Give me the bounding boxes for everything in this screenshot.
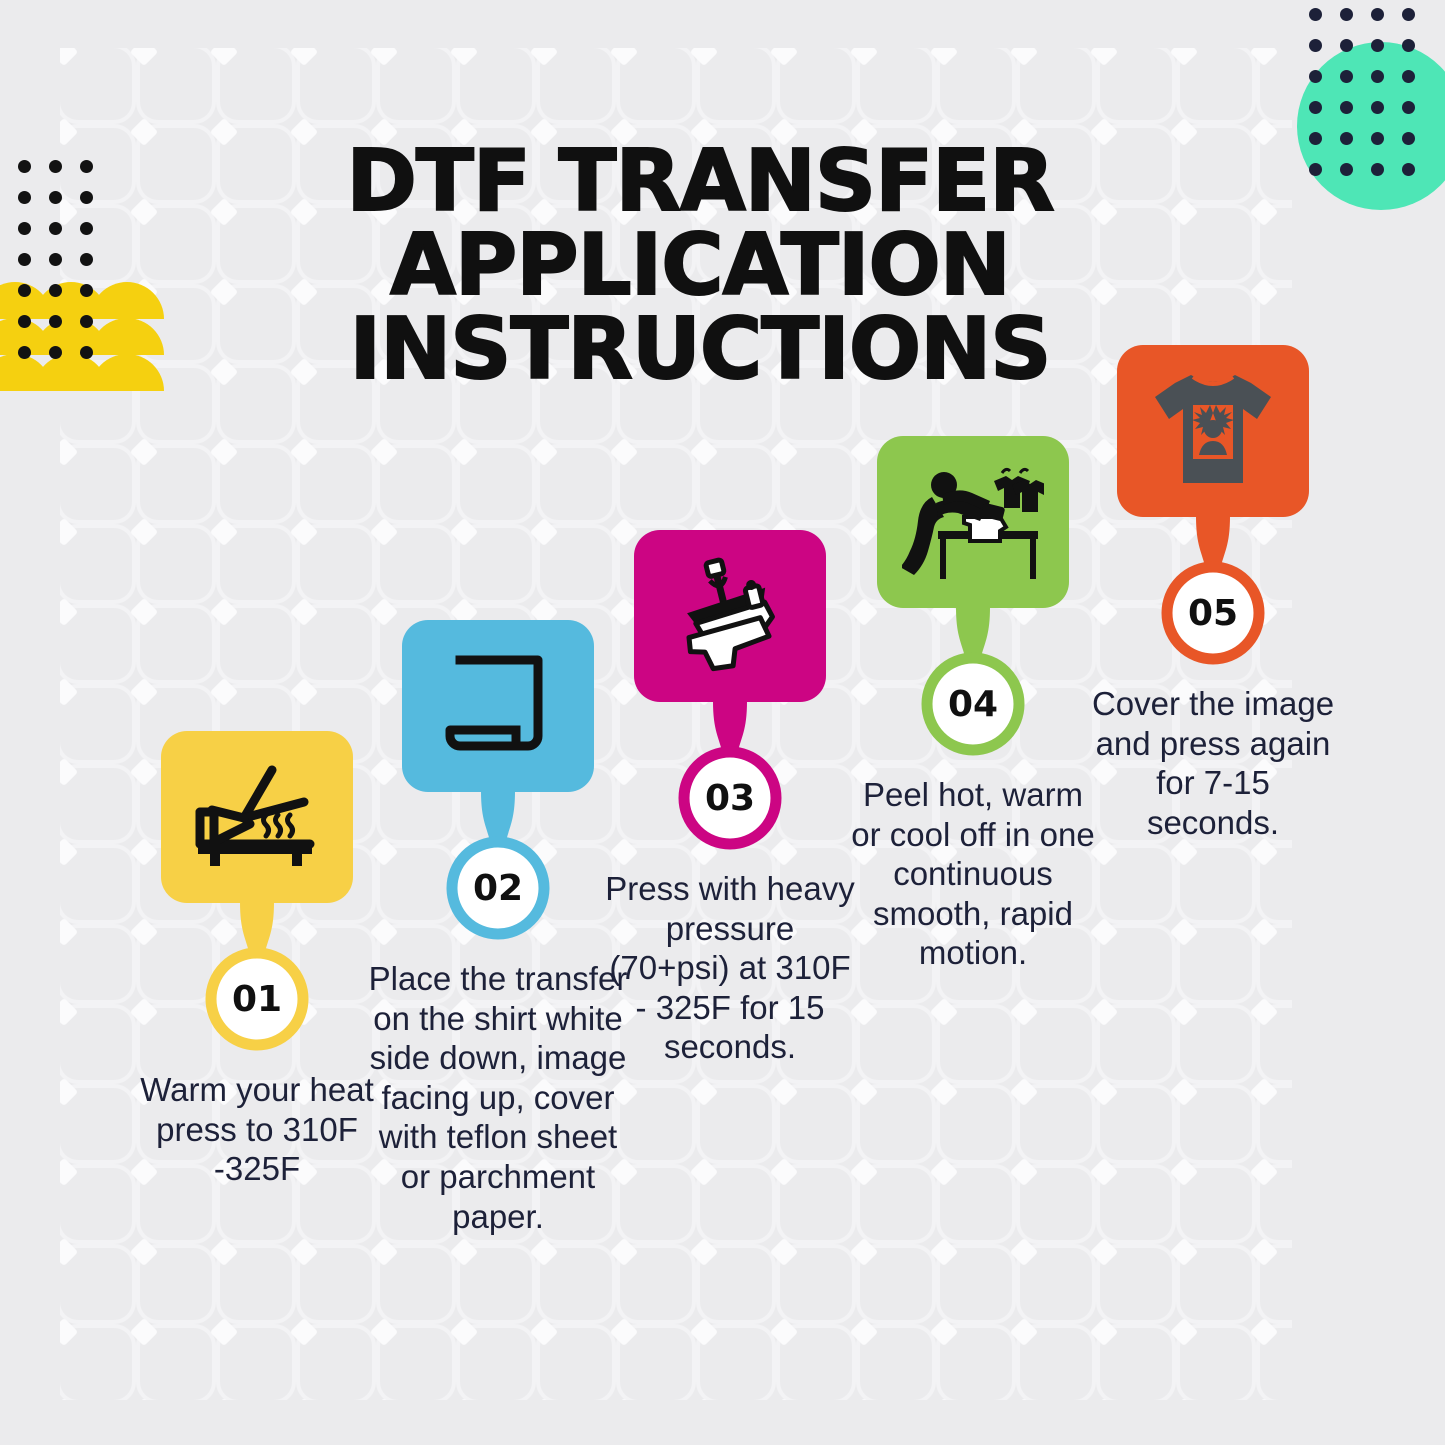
transfer-sheet-icon xyxy=(442,650,554,762)
step-01-card[interactable] xyxy=(161,731,353,903)
step-03-number: 03 xyxy=(677,745,783,851)
step-01-caption: Warm your heat press to 310F -325F xyxy=(127,1070,387,1189)
step-02-caption: Place the transfer on the shirt white si… xyxy=(363,959,633,1236)
step-02: 02 Place the transfer on the shirt white… xyxy=(363,620,633,1236)
step-04: 04 Peel hot, warm or cool off in one con… xyxy=(848,436,1098,973)
step-03: 03 Press with heavy pressure (70+psi) at… xyxy=(605,530,855,1067)
step-03-caption: Press with heavy pressure (70+psi) at 31… xyxy=(605,869,855,1067)
step-04-caption: Peel hot, warm or cool off in one contin… xyxy=(848,775,1098,973)
step-02-number: 02 xyxy=(445,835,551,941)
step-04-number: 04 xyxy=(920,651,1026,757)
step-01-number: 01 xyxy=(204,946,310,1052)
step-01-badge-wrap: 01 xyxy=(204,946,310,1052)
step-05-card[interactable] xyxy=(1117,345,1309,517)
step-02-badge-wrap: 02 xyxy=(445,835,551,941)
step-05-badge-wrap: 05 xyxy=(1160,560,1266,666)
poster-canvas: DTF TRANSFER APPLICATION INSTRUCTIONS xyxy=(0,0,1445,1445)
step-01: 01 Warm your heat press to 310F -325F xyxy=(127,731,387,1189)
peeling-worker-icon xyxy=(902,459,1044,585)
step-03-card[interactable] xyxy=(634,530,826,702)
step-03-badge-wrap: 03 xyxy=(677,745,783,851)
step-05-number: 05 xyxy=(1160,560,1266,666)
press-machine-icon xyxy=(667,553,793,679)
step-04-card[interactable] xyxy=(877,436,1069,608)
printed-tshirt-icon xyxy=(1147,367,1279,495)
step-02-card[interactable] xyxy=(402,620,594,792)
steps-container: 01 Warm your heat press to 310F -325F xyxy=(0,0,1445,1445)
heat-press-icon xyxy=(192,762,322,872)
step-05-caption: Cover the image and press again for 7-15… xyxy=(1088,684,1338,842)
step-05: 05 Cover the image and press again for 7… xyxy=(1088,345,1338,842)
step-04-badge-wrap: 04 xyxy=(920,651,1026,757)
